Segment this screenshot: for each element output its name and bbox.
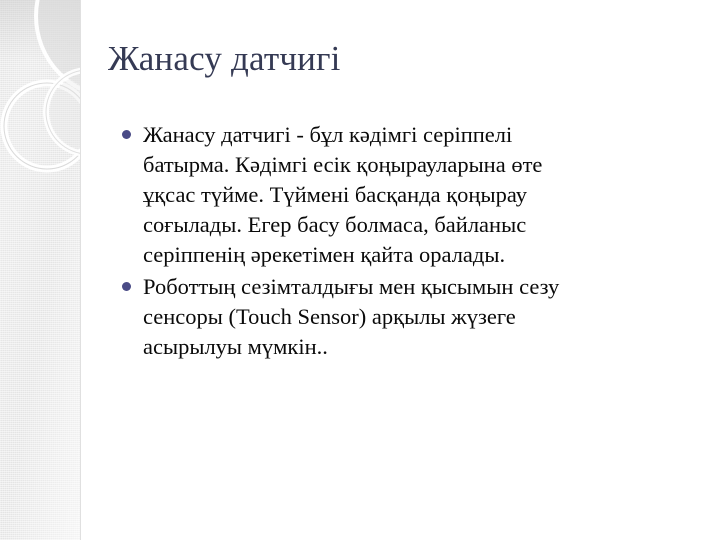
round-bullet-icon [122, 130, 131, 139]
bullet-list: Жанасу датчигі - бұл кәдімгі серіппелі б… [118, 120, 698, 362]
list-item: Роботтың сезімталдығы мен қысымын сезу с… [118, 272, 698, 362]
sidebar-decoration [0, 0, 81, 540]
list-item-text: Жанасу датчигі - бұл кәдімгі серіппелі б… [143, 120, 698, 270]
round-bullet-icon [122, 282, 131, 291]
slide-canvas: Жанасу датчигі Жанасу датчигі - бұл кәді… [0, 0, 720, 540]
slide-body: Жанасу датчигі - бұл кәдімгі серіппелі б… [118, 120, 698, 364]
page-title: Жанасу датчигі [108, 38, 688, 80]
list-item: Жанасу датчигі - бұл кәдімгі серіппелі б… [118, 120, 698, 270]
sidebar-rings-icon [0, 0, 81, 230]
list-item-text: Роботтың сезімталдығы мен қысымын сезу с… [143, 272, 698, 362]
